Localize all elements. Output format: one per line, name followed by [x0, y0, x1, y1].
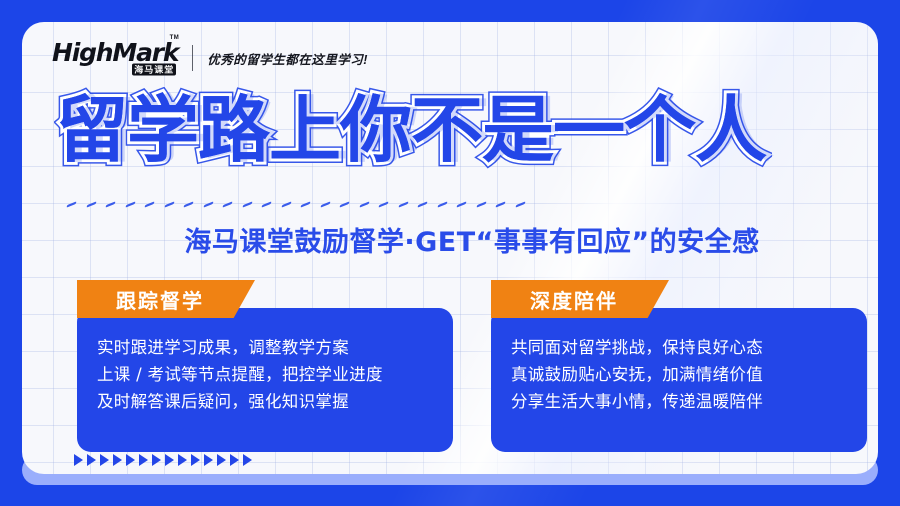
- triangle-marker-icon: [100, 454, 109, 466]
- page-subtitle: 海马课堂鼓励督学·GET“事事有回应”的安全感: [22, 220, 878, 259]
- dash-mark: [320, 201, 330, 207]
- card-body: 共同面对留学挑战，保持良好心态 真诚鼓励贴心安抚，加满情绪价值 分享生活大事小情…: [491, 308, 867, 452]
- dash-mark: [359, 201, 369, 207]
- card-header-banner: 跟踪督学: [77, 280, 255, 318]
- card-body-line: 实时跟进学习成果，调整教学方案: [97, 334, 433, 361]
- dash-mark: [164, 201, 174, 207]
- dash-mark: [515, 201, 525, 207]
- triangle-marker-icon: [230, 454, 239, 466]
- trademark-icon: TM: [170, 35, 180, 41]
- panel-content: HighMark TM 海马课堂 优秀的留学生都在这里学习! 留学路上你不是一个…: [22, 22, 878, 474]
- dash-mark: [262, 201, 272, 207]
- card-header-label: 跟踪督学: [116, 285, 204, 314]
- dash-mark: [86, 201, 96, 207]
- feature-card: 跟踪督学 实时跟进学习成果，调整教学方案 上课 / 考试等节点提醒，把控学业进度…: [77, 280, 453, 452]
- triangle-marker-icon: [178, 454, 187, 466]
- dash-mark: [145, 201, 155, 207]
- dash-mark: [281, 201, 291, 207]
- card-body-line: 共同面对留学挑战，保持良好心态: [511, 334, 847, 361]
- triangle-marker-icon: [191, 454, 200, 466]
- logo-chinese-subtitle: 海马课堂: [132, 64, 176, 76]
- triangle-marker-icon: [87, 454, 96, 466]
- decorative-triangle-row: [74, 454, 252, 466]
- dash-mark: [340, 201, 350, 207]
- triangle-marker-icon: [165, 454, 174, 466]
- triangle-marker-icon: [113, 454, 122, 466]
- dash-mark: [125, 201, 135, 207]
- decorative-dash-row: [68, 198, 868, 210]
- logo-lockup: HighMark TM 海马课堂: [52, 40, 178, 65]
- triangle-marker-icon: [126, 454, 135, 466]
- poster-canvas: HighMark TM 海马课堂 优秀的留学生都在这里学习! 留学路上你不是一个…: [0, 0, 900, 506]
- dash-mark: [223, 201, 233, 207]
- dash-mark: [106, 201, 116, 207]
- card-header-label: 深度陪伴: [530, 285, 618, 314]
- card-header-banner: 深度陪伴: [491, 280, 669, 318]
- dash-mark: [418, 201, 428, 207]
- dash-mark: [457, 201, 467, 207]
- triangle-marker-icon: [204, 454, 213, 466]
- brand-logo: HighMark TM 海马课堂: [52, 40, 178, 76]
- dash-mark: [496, 201, 506, 207]
- card-body-line: 上课 / 考试等节点提醒，把控学业进度: [97, 361, 433, 388]
- dash-mark: [379, 201, 389, 207]
- feature-card: 深度陪伴 共同面对留学挑战，保持良好心态 真诚鼓励贴心安抚，加满情绪价值 分享生…: [491, 280, 867, 452]
- dash-mark: [476, 201, 486, 207]
- triangle-marker-icon: [139, 454, 148, 466]
- dash-mark: [301, 201, 311, 207]
- triangle-marker-icon: [243, 454, 252, 466]
- card-body: 实时跟进学习成果，调整教学方案 上课 / 考试等节点提醒，把控学业进度 及时解答…: [77, 308, 453, 452]
- card-body-line: 分享生活大事小情，传递温暖陪伴: [511, 388, 847, 415]
- dash-mark: [67, 201, 77, 207]
- white-content-panel: HighMark TM 海马课堂 优秀的留学生都在这里学习! 留学路上你不是一个…: [22, 22, 878, 474]
- dash-mark: [437, 201, 447, 207]
- brand-divider: [192, 45, 193, 71]
- logo-wordmark: HighMark: [52, 40, 178, 65]
- brand-row: HighMark TM 海马课堂 优秀的留学生都在这里学习!: [52, 40, 368, 76]
- card-body-line: 及时解答课后疑问，强化知识掌握: [97, 388, 433, 415]
- dash-mark: [184, 201, 194, 207]
- triangle-marker-icon: [217, 454, 226, 466]
- triangle-marker-icon: [152, 454, 161, 466]
- card-body-line: 真诚鼓励贴心安抚，加满情绪价值: [511, 361, 847, 388]
- brand-tagline: 优秀的留学生都在这里学习!: [207, 49, 368, 68]
- dash-mark: [203, 201, 213, 207]
- dash-mark: [398, 201, 408, 207]
- page-title: 留学路上你不是一个人: [56, 94, 856, 166]
- triangle-marker-icon: [74, 454, 83, 466]
- feature-card-list: 跟踪督学 实时跟进学习成果，调整教学方案 上课 / 考试等节点提醒，把控学业进度…: [77, 280, 867, 452]
- dash-mark: [242, 201, 252, 207]
